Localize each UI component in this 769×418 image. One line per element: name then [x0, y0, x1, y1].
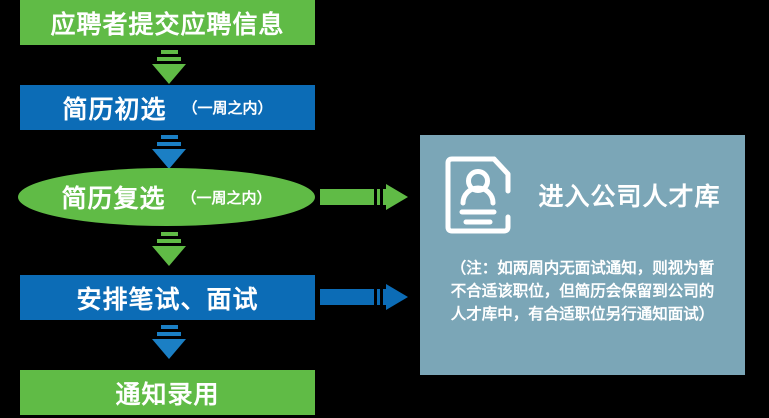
flow-node-offer[interactable]: 通知录用 — [20, 370, 315, 415]
talent-pool-note-line-1: （注：如两周内无面试通知，则视为暂 — [436, 257, 729, 280]
talent-pool-note-line-2: 不合适该职位，但简历会保留到公司的 — [436, 280, 729, 303]
flow-node-screen2-label: 简历复选 — [61, 179, 165, 215]
talent-pool-panel[interactable]: 进入公司人才库 （注：如两周内无面试通知，则视为暂 不合适该职位，但简历会保留到… — [420, 135, 745, 375]
talent-pool-header: 进入公司人才库 — [420, 145, 745, 245]
flow-node-submit-label: 应聘者提交应聘信息 — [50, 5, 284, 41]
arrow-submit-to-screen1 — [152, 50, 186, 84]
talent-pool-note: （注：如两周内无面试通知，则视为暂 不合适该职位，但简历会保留到公司的 人才库中… — [436, 257, 729, 326]
resume-person-document-icon — [444, 155, 516, 235]
flow-node-submit[interactable]: 应聘者提交应聘信息 — [20, 0, 315, 45]
arrow-interview-to-offer — [152, 325, 186, 359]
arrow-screen2-to-interview — [152, 232, 186, 266]
flow-node-screen1[interactable]: 简历初选 （一周之内） — [20, 85, 315, 130]
flow-node-screen1-sublabel: （一周之内） — [183, 97, 273, 118]
talent-pool-note-line-3: 人才库中，有合适职位另行通知面试） — [436, 303, 729, 326]
flow-node-interview[interactable]: 安排笔试、面试 — [20, 275, 315, 320]
flowchart-canvas: 应聘者提交应聘信息 简历初选 （一周之内） 简历复选 （一周之内） 安排笔试、面… — [0, 0, 769, 418]
arrow-screen2-to-pool — [320, 184, 408, 210]
flow-node-screen2-sublabel: （一周之内） — [182, 187, 272, 208]
arrow-interview-to-pool — [320, 284, 408, 310]
flow-node-offer-label: 通知录用 — [115, 375, 219, 411]
talent-pool-title: 进入公司人才库 — [538, 177, 720, 213]
flow-node-screen2[interactable]: 简历复选 （一周之内） — [18, 168, 315, 226]
arrow-screen1-to-screen2 — [152, 135, 186, 169]
flow-node-interview-label: 安排笔试、面试 — [76, 280, 258, 316]
flow-node-screen1-label: 简历初选 — [62, 90, 166, 126]
